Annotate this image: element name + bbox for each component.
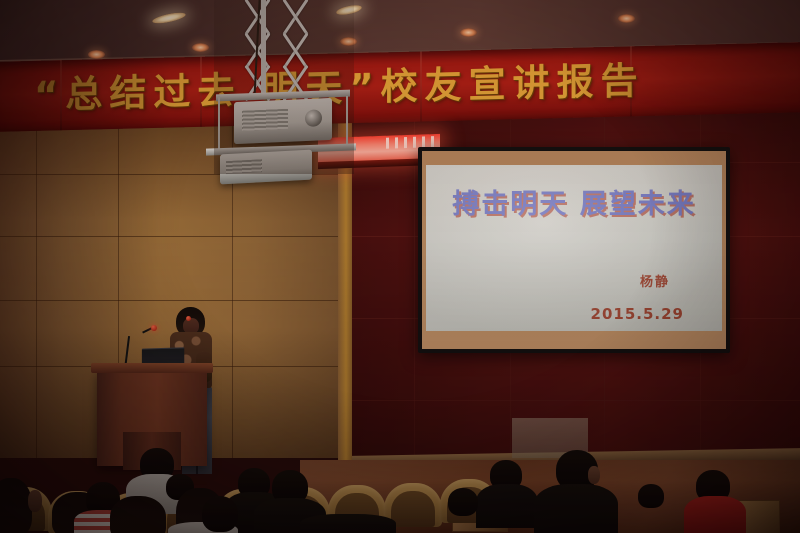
- downlight-icon: [88, 50, 105, 59]
- slide-date: 2015.5.29: [591, 305, 684, 323]
- slide-presenter-name: 杨静: [640, 271, 670, 290]
- projector-lens-icon: [305, 109, 322, 127]
- audience-head: [638, 484, 664, 508]
- slide-title: 搏击明天 展望未来: [426, 182, 722, 221]
- downlight-icon: [460, 28, 477, 37]
- audience-shoulders: [476, 484, 538, 528]
- audience-shoulders: [300, 514, 396, 533]
- audience-shoulders: [684, 496, 746, 533]
- projector-vent: [226, 159, 262, 174]
- slide-surface: 搏击明天 展望未来 杨静 2015.5.29: [426, 165, 722, 331]
- ceiling-projector-upper: [234, 98, 332, 144]
- projection-screen: 搏击明天 展望未来 杨静 2015.5.29: [418, 147, 730, 353]
- downlight-icon: [618, 14, 635, 23]
- auditorium-photo-scene: “总结过去 明天”校友宣讲报告 搏击明天 展望未来 杨静 2015.5.29: [0, 0, 800, 533]
- audience-face: [588, 466, 600, 484]
- downlight-icon: [192, 43, 209, 52]
- audience-head: [202, 496, 238, 532]
- audience-face: [28, 490, 42, 512]
- audience-shoulders: [534, 484, 618, 533]
- podium-top: [91, 363, 213, 373]
- ceiling-projector-lower: [220, 150, 312, 185]
- audience-head: [0, 478, 32, 533]
- microphone-head-icon: [151, 325, 157, 331]
- audience-head: [448, 488, 478, 516]
- rig-mast: [261, 0, 266, 96]
- audience-head: [110, 496, 166, 533]
- screen-mat: 搏击明天 展望未来 杨静 2015.5.29: [422, 151, 726, 349]
- microphone-head-icon: [186, 316, 191, 321]
- scissor-lift-mount: [250, 0, 316, 92]
- projector-vent: [242, 109, 288, 131]
- ceiling-projector-rig: [214, 0, 354, 174]
- audience-area: [0, 418, 800, 533]
